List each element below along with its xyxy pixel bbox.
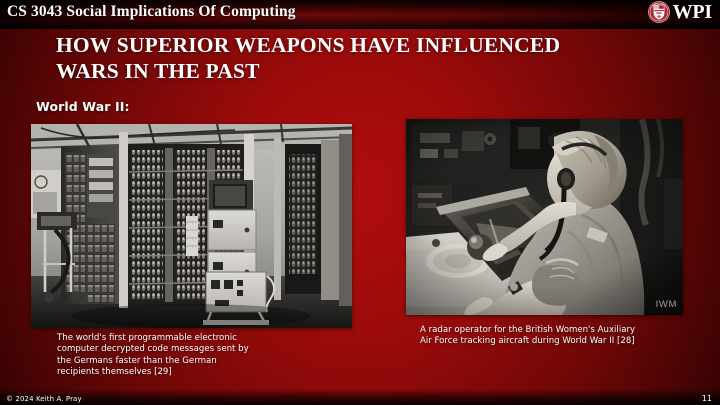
- colossus-computer-photo: [31, 124, 352, 328]
- slide-footer: © 2024 Keith A. Pray 11: [0, 389, 720, 405]
- radar-operator-photo: IWM: [406, 119, 683, 315]
- caption-right-line-1: A radar operator for the British Women's…: [420, 325, 690, 336]
- caption-left-line-2: computer decrypted code messages sent by: [57, 344, 319, 355]
- caption-right-line-2: Air Force tracking aircraft during World…: [420, 336, 690, 347]
- slide-title: HOW SUPERIOR WEAPONS HAVE INFLUENCED WAR…: [56, 33, 656, 84]
- presentation-slide: CS 3043 Social Implications Of Computing…: [0, 0, 720, 405]
- copyright-notice: © 2024 Keith A. Pray: [6, 395, 82, 403]
- slide-number: 11: [702, 394, 712, 403]
- slide-subhead: World War II:: [36, 99, 130, 114]
- wpi-seal-icon: [648, 1, 670, 23]
- iwm-watermark: IWM: [656, 299, 677, 310]
- wpi-logo: WPI: [648, 1, 712, 23]
- slide-title-line-1: HOW SUPERIOR WEAPONS HAVE INFLUENCED: [56, 33, 656, 59]
- course-title: CS 3043 Social Implications Of Computing: [7, 3, 296, 21]
- slide-title-line-2: WARS IN THE PAST: [56, 59, 656, 85]
- slide-header-bar: CS 3043 Social Implications Of Computing…: [0, 0, 720, 29]
- radar-photo-caption: A radar operator for the British Women's…: [420, 325, 690, 348]
- colossus-photo-caption: The world's first programmable electroni…: [57, 333, 319, 379]
- wpi-wordmark: WPI: [673, 1, 712, 23]
- caption-left-line-3: the Germans faster than the German: [57, 356, 319, 367]
- caption-left-line-4: recipients themselves [29]: [57, 367, 319, 378]
- caption-left-line-1: The world's first programmable electroni…: [57, 333, 319, 344]
